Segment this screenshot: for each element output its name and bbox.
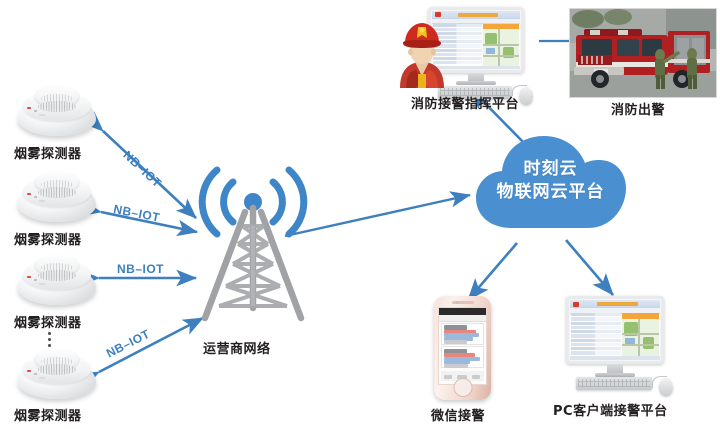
- table-row: [571, 330, 621, 333]
- screen-alarm-table: [571, 313, 621, 356]
- detector-mark: [39, 283, 45, 285]
- table-row: [571, 313, 621, 316]
- phone-chat-header: [439, 315, 486, 321]
- cell-tower[interactable]: [183, 160, 323, 345]
- pc-client-monitor[interactable]: [562, 296, 672, 388]
- map-road: [622, 344, 659, 346]
- input-hint: [444, 375, 452, 379]
- monitor-neck: [607, 364, 623, 373]
- detector-led-icon: [27, 370, 31, 372]
- map-road: [483, 44, 519, 46]
- cloud-title-line1: 时刻云: [468, 158, 633, 181]
- detector-led-icon: [27, 107, 31, 109]
- detector-vent: [38, 187, 76, 198]
- map-header: [622, 313, 659, 319]
- detector-mark: [39, 114, 45, 116]
- table-row: [571, 339, 621, 342]
- screen-title-banner: [597, 302, 638, 307]
- wechat-alarm-card: [441, 323, 483, 345]
- map-road: [622, 333, 659, 335]
- phone-home-button[interactable]: [453, 378, 472, 397]
- screen-title-banner: [458, 13, 498, 17]
- link-cloud-to-wechat: [468, 243, 517, 300]
- fire-truck-icon: [570, 9, 716, 97]
- table-row: [571, 326, 621, 329]
- keyboard-icon: [576, 377, 652, 390]
- map-water: [486, 48, 495, 54]
- detector-vent: [38, 364, 76, 375]
- map-road: [638, 319, 640, 357]
- input-hint: [472, 375, 480, 379]
- map-road: [498, 29, 500, 65]
- table-row: [571, 322, 621, 325]
- mouse-icon: [659, 378, 673, 396]
- smoke-detector-2-label: 烟雾探测器: [14, 229, 82, 248]
- smoke-detector-4[interactable]: [14, 345, 100, 403]
- monitor-neck: [468, 73, 484, 81]
- firefighter-avatar: [396, 18, 448, 88]
- iot-cloud-platform[interactable]: 时刻云 物联网云平台: [468, 130, 633, 247]
- card-line: [444, 340, 466, 344]
- map-water: [625, 338, 635, 344]
- phone-speaker: [452, 301, 474, 304]
- map-area: [643, 337, 654, 349]
- screen-logo-icon: [573, 302, 579, 307]
- detector-mark: [39, 377, 45, 379]
- detector-led2-icon: [34, 110, 37, 112]
- screen-titlebar: [570, 300, 660, 308]
- detector-vent: [38, 270, 76, 281]
- cell-tower-icon: [183, 160, 323, 340]
- link-cloud-to-pc: [566, 240, 613, 295]
- map-header: [483, 24, 519, 29]
- table-row: [571, 334, 621, 337]
- smoke-detector-4-label: 烟雾探测器: [14, 405, 82, 424]
- screen-map-panel: [483, 24, 519, 66]
- smoke-detector-3-label: 烟雾探测器: [14, 312, 82, 331]
- mouse-icon: [519, 87, 533, 105]
- table-row: [571, 347, 621, 350]
- screen-map-panel: [622, 313, 659, 356]
- detector-led2-icon: [34, 373, 37, 375]
- cell-tower-label: 运营商网络: [203, 338, 271, 357]
- pc-client-label: PC客户端接警平台: [553, 400, 668, 419]
- smoke-detector-1-label: 烟雾探测器: [14, 143, 82, 162]
- monitor-screen: [570, 300, 660, 360]
- phone-status-bar: [439, 308, 486, 315]
- smoke-detector-2[interactable]: [14, 168, 100, 226]
- phone-camera-icon: [456, 301, 459, 304]
- detector-led-icon: [27, 193, 31, 195]
- wechat-alarm-card: [441, 346, 483, 368]
- cloud-title-line2: 物联网云平台: [468, 181, 633, 204]
- cloud-text-block: 时刻云 物联网云平台: [468, 158, 633, 204]
- command-platform-label: 消防接警指挥平台: [411, 93, 519, 112]
- table-row: [571, 343, 621, 346]
- detector-led-icon: [27, 276, 31, 278]
- screen-statusbar: [570, 356, 660, 360]
- detector-mark: [39, 200, 45, 202]
- smoke-detector-1[interactable]: [14, 82, 100, 140]
- fire-dispatch-label: 消防出警: [611, 99, 665, 118]
- detector-led2-icon: [34, 279, 37, 281]
- diagram-canvas: NB–IOT NB–IOT NB–IOT NB–IOT 烟雾探测器 烟雾探测器 …: [0, 0, 720, 429]
- link-label-nbiot-3: NB–IOT: [117, 262, 164, 276]
- smoke-detector-3[interactable]: [14, 251, 100, 309]
- monitor-base: [456, 81, 496, 85]
- map-road: [483, 55, 519, 57]
- table-row: [571, 317, 621, 320]
- wechat-alarm-label: 微信接警: [431, 405, 485, 424]
- screen-logo-icon: [435, 12, 441, 17]
- firefighter-icon: [396, 18, 448, 88]
- card-line: [444, 364, 467, 368]
- phone-screen: [438, 307, 487, 385]
- detector-vent: [38, 101, 76, 112]
- fire-truck-photo[interactable]: [569, 8, 717, 98]
- detector-led2-icon: [34, 196, 37, 198]
- wechat-phone[interactable]: [434, 296, 491, 400]
- table-row: [571, 351, 621, 354]
